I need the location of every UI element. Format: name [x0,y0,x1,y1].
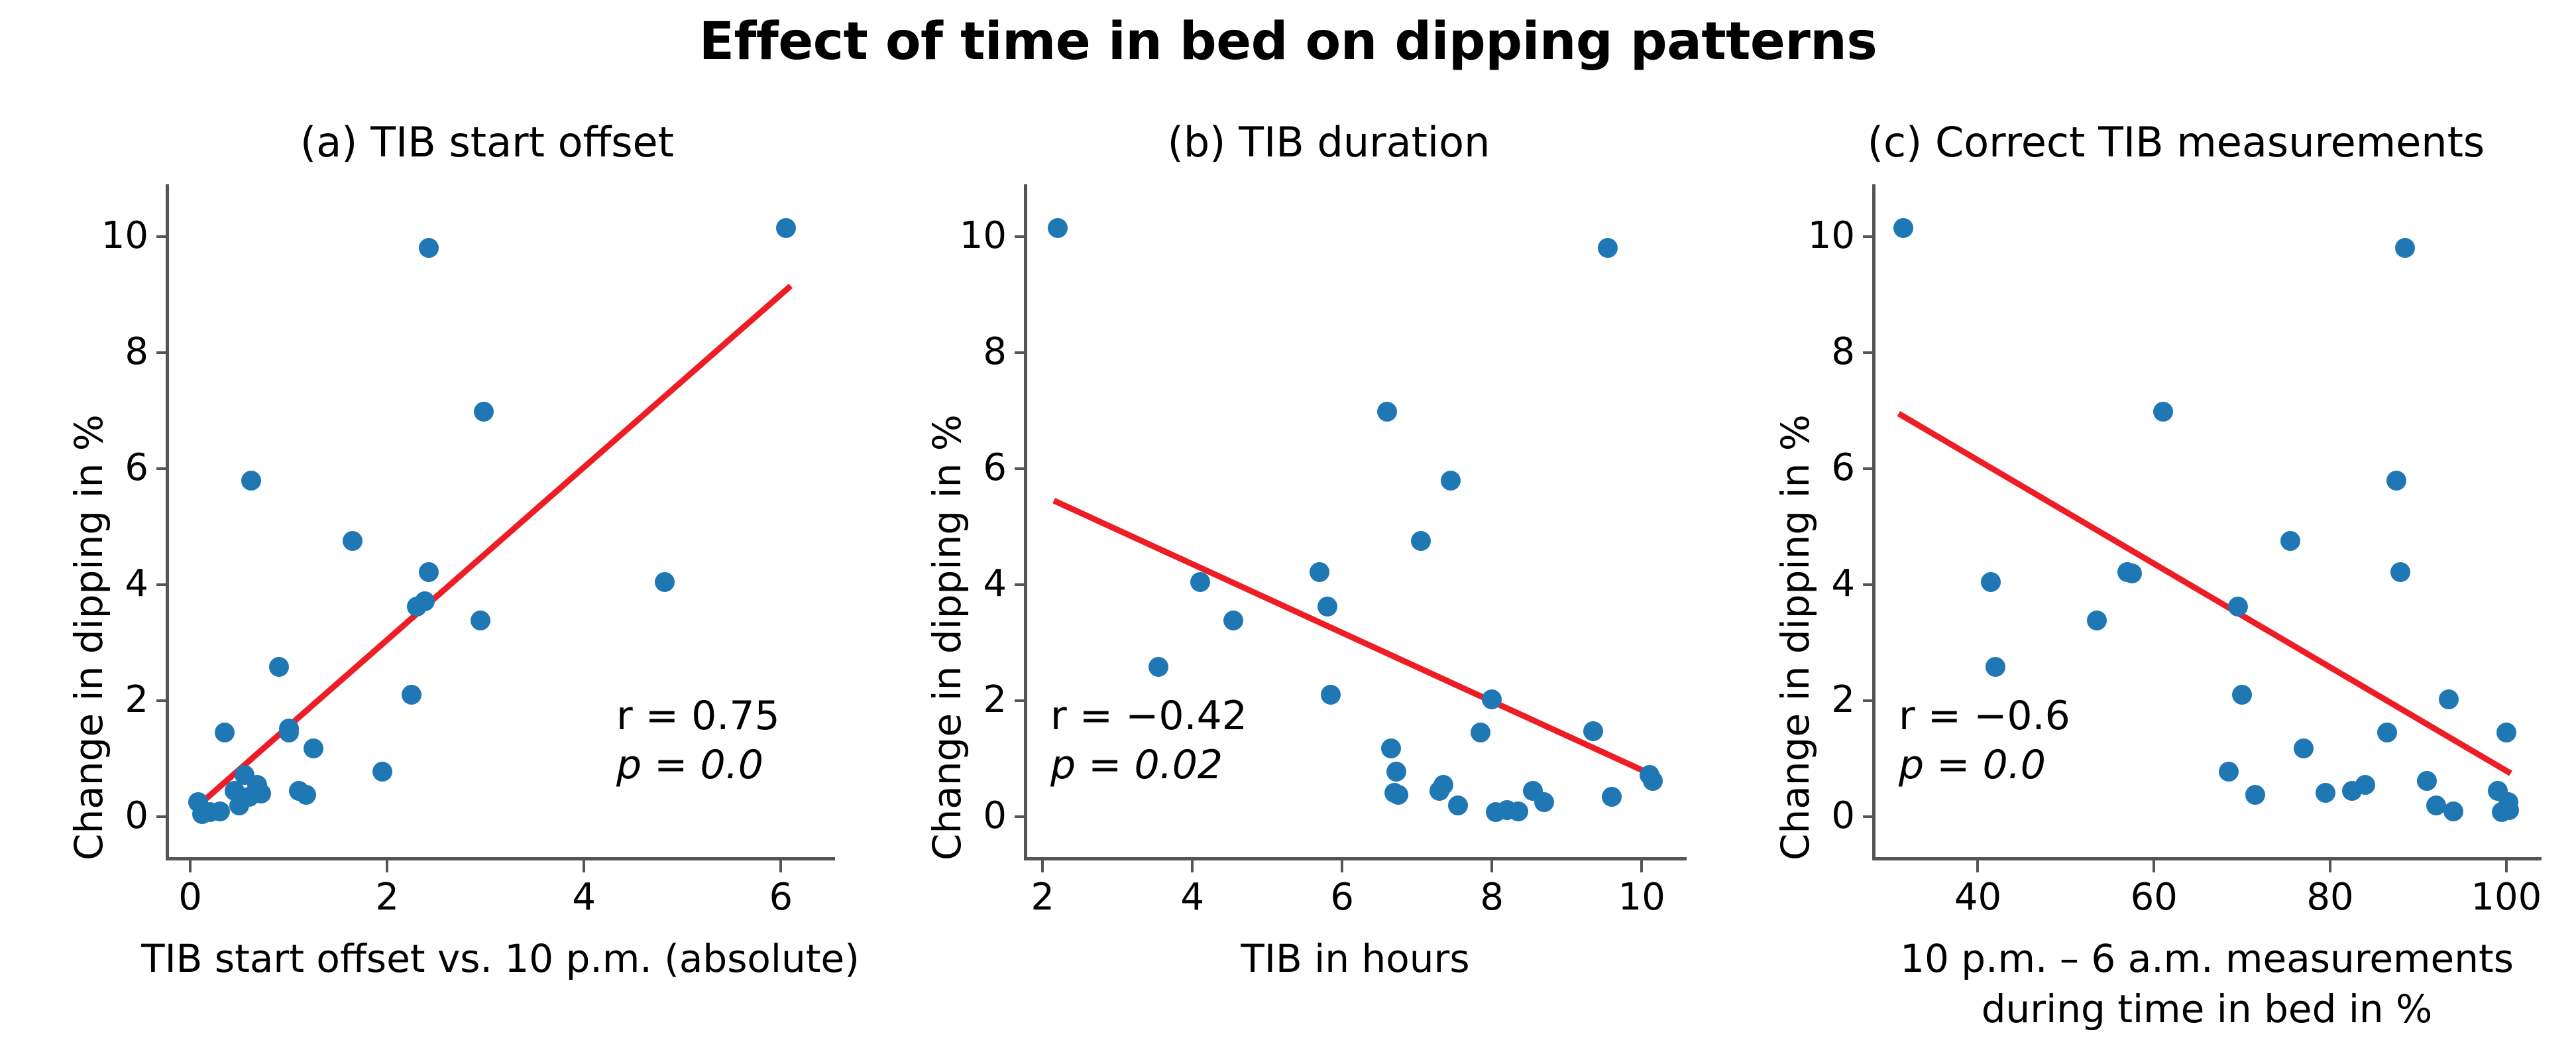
scatter-point [1583,721,1603,741]
scatter-point [304,738,323,758]
panel-c-ylabel: Change in dipping in % [1773,414,1818,860]
scatter-point [1433,775,1453,795]
panel-c-r-value: r = −0.6 [1899,691,2070,740]
scatter-point [402,685,421,705]
y-tick-label: 2 [125,679,148,721]
y-axis-spine [166,184,169,860]
scatter-point [1441,471,1461,491]
y-tick-label: 6 [1831,447,1855,489]
tick-mark [156,351,167,354]
scatter-point [2294,738,2314,758]
scatter-point [1148,657,1168,677]
scatter-point [419,238,439,258]
y-tick-label: 4 [1831,563,1855,605]
scatter-point [1602,787,1622,807]
y-axis-spine [1872,184,1876,860]
x-tick-label: 2 [1003,876,1082,919]
scatter-point [2390,562,2410,582]
tick-mark [1191,860,1194,872]
scatter-point [269,657,289,677]
panel-b-annotation: r = −0.42 p = 0.02 [1050,691,1247,790]
scatter-point [1598,238,1618,258]
scatter-point [1471,723,1490,742]
tick-mark [1863,467,1874,470]
scatter-point [2395,238,2415,258]
tick-mark [1015,467,1025,470]
tick-mark [1041,860,1044,872]
scatter-point [372,762,392,782]
scatter-point [215,723,235,742]
x-tick-label: 100 [2467,876,2546,919]
scatter-point [343,531,363,551]
scatter-point [415,591,435,611]
x-axis-spine [166,857,835,860]
scatter-point [210,801,230,821]
x-tick-label: 0 [150,876,230,919]
scatter-point [2316,783,2335,803]
panel-a-p-value: p = 0.0 [616,740,780,790]
y-tick-label: 6 [983,447,1007,489]
x-tick-label: 80 [2290,876,2370,919]
scatter-point [1190,572,1210,592]
y-axis-spine [1024,184,1027,860]
x-tick-label: 2 [347,876,427,919]
tick-mark [1015,235,1025,238]
scatter-point [1643,771,1663,791]
scatter-point [1048,218,1068,238]
panel-a: (a) TIB start offset 02468100246 Change … [0,99,881,1041]
scatter-point [1377,402,1397,422]
panel-a-title: (a) TIB start offset [0,118,928,166]
panel-b-title: (b) TIB duration [875,118,1756,166]
tick-mark [189,860,192,872]
panel-c-xlabel: 10 p.m. – 6 a.m. measurements during tim… [1793,933,2576,1034]
scatter-point [776,218,796,238]
panel-b-p-value: p = 0.02 [1050,740,1247,790]
panel-c-annotation: r = −0.6 p = 0.0 [1899,691,2070,790]
scatter-point [1310,562,1329,582]
scatter-point [2386,471,2406,491]
tick-mark [1976,860,1979,872]
x-axis-spine [1024,857,1687,860]
scatter-point [1411,531,1431,551]
tick-mark [2329,860,2331,872]
tick-mark [156,815,167,818]
scatter-point [1321,685,1341,705]
tick-mark [156,467,167,470]
panel-b-r-value: r = −0.42 [1050,691,1247,740]
figure-canvas: Effect of time in bed on dipping pattern… [0,0,2576,1060]
tick-mark [1863,815,1874,818]
y-tick-label: 0 [125,795,148,837]
tick-mark [1015,351,1025,354]
panel-a-r-value: r = 0.75 [616,691,780,740]
y-tick-label: 10 [960,215,1007,257]
tick-mark [156,235,167,238]
scatter-point [2496,723,2516,742]
tick-mark [1863,583,1874,586]
y-tick-label: 8 [1831,331,1855,373]
scatter-point [1893,218,1913,238]
tick-mark [779,860,782,872]
scatter-point [2443,801,2463,821]
y-tick-label: 0 [983,795,1007,837]
x-axis-spine [1872,857,2542,860]
tick-mark [1863,235,1874,238]
x-tick-label: 6 [1302,876,1382,919]
panel-a-xlabel: TIB start offset vs. 10 p.m. (absolute) [86,933,915,984]
scatter-point [241,471,261,491]
scatter-point [655,572,675,592]
y-tick-label: 10 [101,215,148,257]
scatter-point [1534,792,1554,812]
panel-b-xlabel: TIB in hours [944,933,1766,984]
scatter-point [1381,738,1401,758]
tick-mark [386,860,388,872]
figure-title: Effect of time in bed on dipping pattern… [0,12,2576,72]
scatter-point [2219,762,2239,782]
panel-b: (b) TIB duration 0246810246810 Change in… [875,99,1730,1041]
panel-c: (c) Correct TIB measurements 02468104060… [1723,99,2576,1041]
scatter-point [1388,785,1408,805]
x-tick-label: 6 [741,876,820,919]
scatter-point [1317,597,1337,617]
scatter-point [279,719,299,738]
scatter-point [419,562,439,582]
y-tick-label: 2 [1831,679,1855,721]
tick-mark [1341,860,1343,872]
y-tick-label: 8 [125,331,148,373]
scatter-point [474,402,494,422]
tick-mark [156,699,167,702]
panel-a-annotation: r = 0.75 p = 0.0 [616,691,780,790]
x-tick-label: 4 [1152,876,1232,919]
tick-mark [1863,351,1874,354]
panel-b-ylabel: Change in dipping in % [924,414,970,860]
scatter-point [2377,723,2397,742]
scatter-point [2153,402,2173,422]
scatter-point [1986,657,2005,677]
y-tick-label: 4 [983,563,1007,605]
scatter-point [2355,775,2375,795]
y-tick-label: 4 [125,563,148,605]
scatter-point [2417,771,2437,791]
panel-c-p-value: p = 0.0 [1899,740,2070,790]
x-tick-label: 40 [1938,876,2017,919]
scatter-point [2245,785,2265,805]
tick-mark [1490,860,1493,872]
x-tick-label: 8 [1452,876,1532,919]
tick-mark [583,860,585,872]
panel-a-ylabel: Change in dipping in % [66,414,111,860]
x-tick-label: 10 [1602,876,1681,919]
scatter-point [1981,572,2001,592]
x-tick-label: 4 [544,876,624,919]
scatter-point [2439,689,2459,709]
tick-mark [2505,860,2508,872]
scatter-point [251,784,271,803]
y-tick-label: 8 [983,331,1007,373]
scatter-point [1448,795,1468,815]
y-tick-label: 2 [983,679,1007,721]
scatter-point [2087,611,2107,630]
tick-mark [1015,583,1025,586]
scatter-point [2280,531,2300,551]
tick-mark [1015,699,1025,702]
scatter-point [1386,762,1406,782]
panel-c-title: (c) Correct TIB measurements [1723,118,2576,166]
y-tick-label: 10 [1808,215,1855,257]
tick-mark [1863,699,1874,702]
y-tick-label: 0 [1831,795,1855,837]
scatter-point [2228,597,2248,617]
scatter-point [1223,611,1243,630]
tick-mark [156,583,167,586]
scatter-point [296,785,316,805]
tick-mark [1015,815,1025,818]
scatter-point [2426,795,2446,815]
scatter-point [1508,801,1528,821]
scatter-point [471,611,490,630]
tick-mark [2153,860,2155,872]
tick-mark [1640,860,1643,872]
scatter-point [2232,685,2252,705]
scatter-point [2499,800,2519,820]
scatter-point [1482,689,1502,709]
x-tick-label: 60 [2114,876,2194,919]
y-tick-label: 6 [125,447,148,489]
scatter-point [2122,563,2142,583]
